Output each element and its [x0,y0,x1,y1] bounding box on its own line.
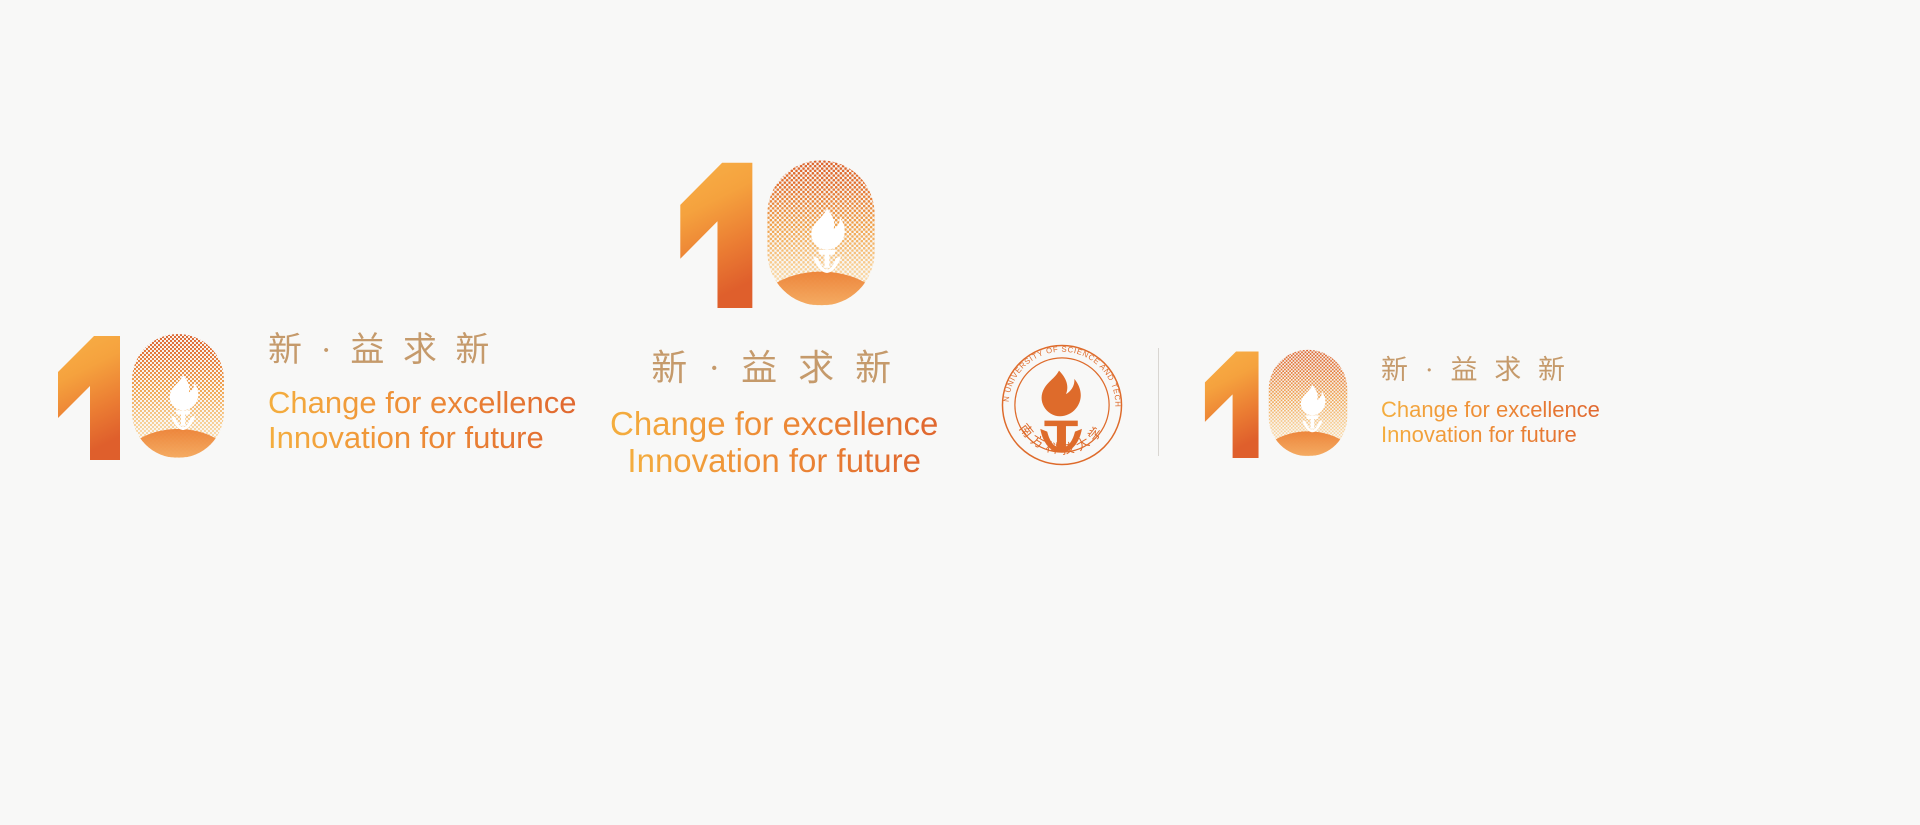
logo-sheet-canvas: 新 · 益 求 新 Change for excellence Innovati… [0,0,1920,825]
chinese-tagline: 新 · 益 求 新 [1381,357,1600,384]
english-tagline-line-2: Innovation for future [1381,423,1600,448]
seal-torch-icon [1040,371,1082,453]
digit-zero-shape [130,332,226,460]
cobrand-divider [1158,348,1159,456]
english-tagline-line-1: Change for excellence [268,386,576,421]
lockup-stacked-center: 新 · 益 求 新 Change for excellence Innovati… [610,158,938,480]
chinese-tagline: 新 · 益 求 新 [651,350,897,386]
english-tagline-line-2: Innovation for future [268,421,576,456]
english-tagline-line-1: Change for excellence [610,406,938,443]
english-tagline-line-1: Change for excellence [1381,398,1600,423]
anniversary-mark-10 [50,332,226,460]
seal-svg: SOUTHERN UNIVERSITY OF SCIENCE AND TECHN… [1000,343,1124,467]
tagline-block: 新 · 益 求 新 Change for excellence Innovati… [1381,357,1600,449]
tagline-block: 新 · 益 求 新 Change for excellence Innovati… [268,334,576,457]
tagline-block: 新 · 益 求 新 Change for excellence Innovati… [610,350,938,480]
anniversary-mark-10 [671,158,877,308]
anniversary-mark-10 [1198,348,1349,458]
digit-one-shape [671,158,757,308]
sustech-university-seal: SOUTHERN UNIVERSITY OF SCIENCE AND TECHN… [1000,343,1124,467]
digit-zero-shape [765,158,877,308]
english-tagline-line-2: Innovation for future [627,443,921,480]
lockup-cobrand-right: 新 · 益 求 新 Change for excellence Innovati… [1198,348,1600,458]
chinese-tagline: 新 · 益 求 新 [268,334,576,368]
lockup-horizontal-left: 新 · 益 求 新 Change for excellence Innovati… [50,332,576,460]
digit-one-shape [1198,348,1262,458]
digit-one-shape [50,332,124,460]
digit-zero-shape [1267,348,1349,458]
